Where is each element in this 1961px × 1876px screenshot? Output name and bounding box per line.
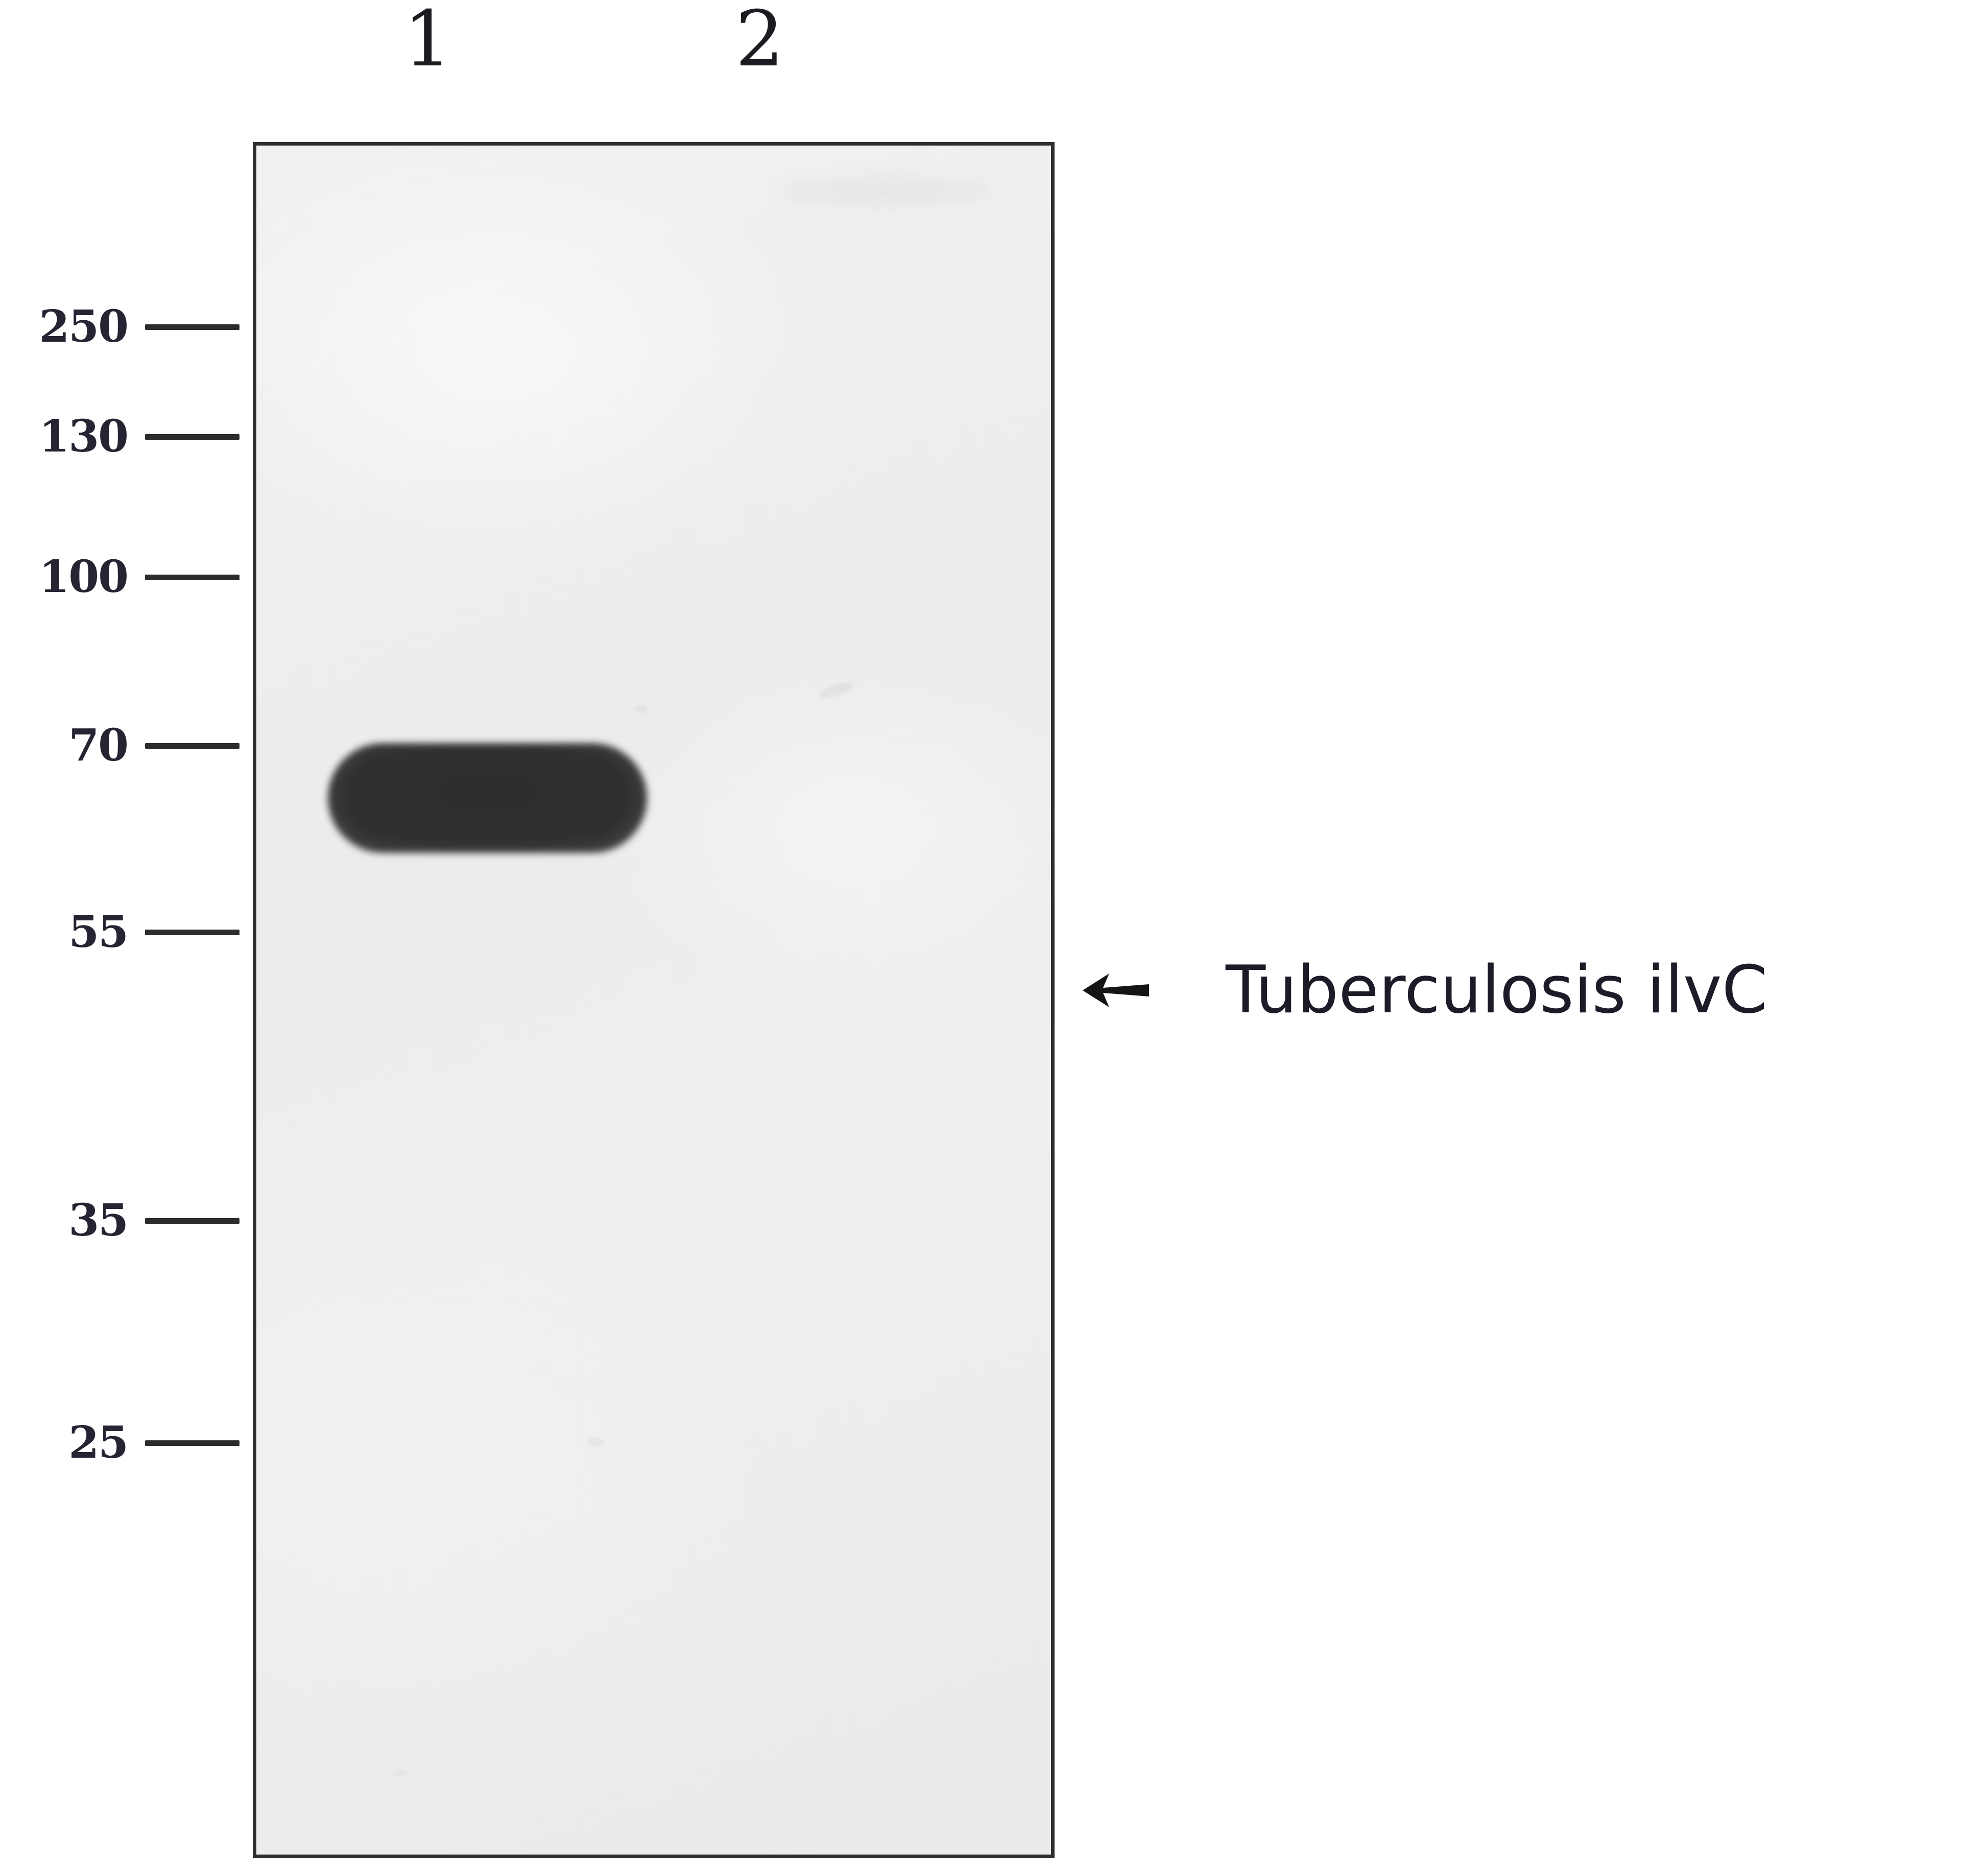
ladder-tick xyxy=(145,324,240,330)
ladder-value: 25 xyxy=(0,1420,128,1466)
ladder-marker-25: 25 xyxy=(0,1420,240,1466)
ladder-tick xyxy=(145,743,240,749)
ladder-value: 55 xyxy=(0,909,128,955)
ladder-value: 100 xyxy=(0,554,128,600)
ladder-marker-100: 100 xyxy=(0,554,240,600)
ladder-value: 70 xyxy=(0,723,128,769)
membrane-smudge xyxy=(777,176,992,207)
ladder-tick xyxy=(145,434,240,440)
membrane-smudge xyxy=(634,705,648,713)
lane-number-2: 2 xyxy=(735,0,784,84)
blot-membrane xyxy=(253,142,1055,1858)
ladder-marker-250: 250 xyxy=(0,304,240,350)
membrane-smudge xyxy=(394,1770,406,1777)
ladder-tick xyxy=(145,1440,240,1446)
membrane-smudge xyxy=(588,1438,604,1447)
protein-band-lane1-core xyxy=(343,753,632,841)
ladder-marker-70: 70 xyxy=(0,723,240,769)
arrow-left-icon xyxy=(1083,967,1149,1013)
lane-number-1: 1 xyxy=(403,0,452,84)
annotation-label: Tuberculosis ilvC xyxy=(1226,958,1767,1023)
ladder-tick xyxy=(145,575,240,580)
membrane-surface xyxy=(256,146,1051,1855)
band-annotation: Tuberculosis ilvC xyxy=(1083,958,1767,1023)
ladder-marker-130: 130 xyxy=(0,414,240,460)
ladder-marker-55: 55 xyxy=(0,909,240,955)
ladder-tick xyxy=(145,930,240,935)
ladder-value: 35 xyxy=(0,1198,128,1244)
ladder-marker-35: 35 xyxy=(0,1198,240,1244)
ladder-tick xyxy=(145,1218,240,1224)
ladder-value: 130 xyxy=(0,414,128,460)
ladder-value: 250 xyxy=(0,304,128,350)
